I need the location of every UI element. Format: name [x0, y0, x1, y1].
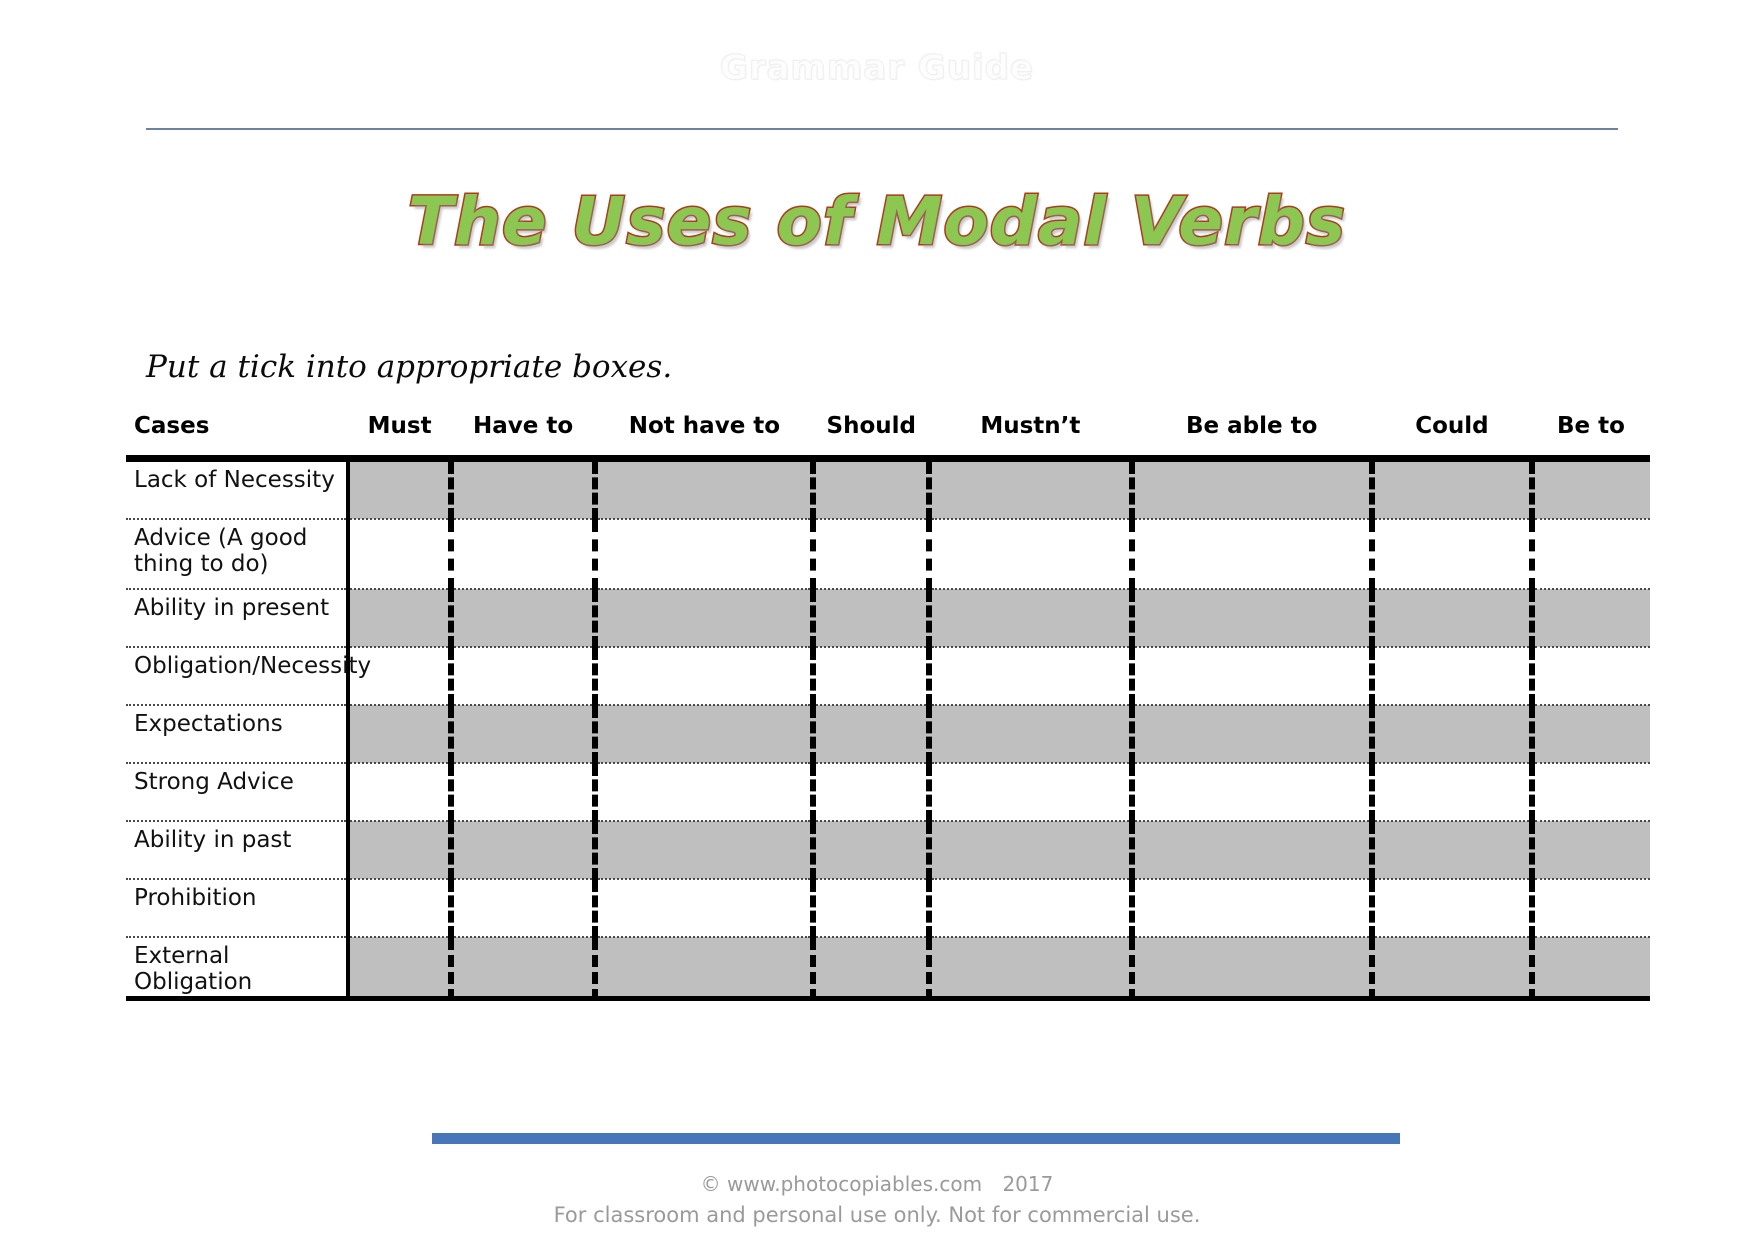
- tick-cell[interactable]: [929, 705, 1131, 763]
- table-body: Lack of NecessityAdvice (A good thing to…: [126, 459, 1650, 999]
- tick-cell[interactable]: [348, 589, 450, 647]
- tick-cell[interactable]: [1132, 647, 1372, 705]
- tick-cell[interactable]: [1132, 937, 1372, 998]
- column-header-have-to: Have to: [451, 413, 596, 459]
- row-label: Expectations: [126, 705, 348, 763]
- tick-cell[interactable]: [451, 705, 596, 763]
- tick-cell[interactable]: [929, 589, 1131, 647]
- footer-copyright: © www.photocopiables.com 2017: [0, 1172, 1754, 1196]
- row-label: Strong Advice: [126, 763, 348, 821]
- column-header-could: Could: [1372, 413, 1532, 459]
- tick-cell[interactable]: [1372, 459, 1532, 520]
- tick-cell[interactable]: [1532, 647, 1650, 705]
- tick-cell[interactable]: [929, 459, 1131, 520]
- table-row: Prohibition: [126, 879, 1650, 937]
- table-row: Advice (A good thing to do): [126, 519, 1650, 589]
- tick-cell[interactable]: [813, 647, 929, 705]
- column-header-not-have-to: Not have to: [595, 413, 813, 459]
- table-row: Lack of Necessity: [126, 459, 1650, 520]
- tick-cell[interactable]: [595, 705, 813, 763]
- tick-cell[interactable]: [451, 763, 596, 821]
- column-header-must: Must: [348, 413, 450, 459]
- tick-cell[interactable]: [813, 879, 929, 937]
- tick-cell[interactable]: [1372, 763, 1532, 821]
- tick-cell[interactable]: [1532, 589, 1650, 647]
- document-header-title: Grammar Guide: [0, 48, 1754, 88]
- footer-usage-notice: For classroom and personal use only. Not…: [0, 1203, 1754, 1227]
- tick-cell[interactable]: [1132, 459, 1372, 520]
- tick-cell[interactable]: [929, 879, 1131, 937]
- tick-cell[interactable]: [1532, 821, 1650, 879]
- tick-cell[interactable]: [813, 459, 929, 520]
- tick-cell[interactable]: [929, 519, 1131, 589]
- table-row: External Obligation: [126, 937, 1650, 998]
- worksheet-table-container: CasesMustHave toNot have toShouldMustn’t…: [126, 413, 1650, 1001]
- tick-cell[interactable]: [451, 879, 596, 937]
- column-header-mustn-t: Mustn’t: [929, 413, 1131, 459]
- tick-cell[interactable]: [929, 821, 1131, 879]
- row-label: Advice (A good thing to do): [126, 519, 348, 589]
- instruction-text: Put a tick into appropriate boxes.: [146, 349, 672, 385]
- tick-cell[interactable]: [929, 937, 1131, 998]
- row-label: Ability in present: [126, 589, 348, 647]
- tick-cell[interactable]: [451, 519, 596, 589]
- footer-site: www.photocopiables.com: [727, 1172, 982, 1196]
- tick-cell[interactable]: [451, 821, 596, 879]
- tick-cell[interactable]: [595, 647, 813, 705]
- tick-cell[interactable]: [1132, 821, 1372, 879]
- tick-cell[interactable]: [348, 519, 450, 589]
- tick-cell[interactable]: [929, 647, 1131, 705]
- tick-cell[interactable]: [595, 459, 813, 520]
- table-header-row: CasesMustHave toNot have toShouldMustn’t…: [126, 413, 1650, 459]
- tick-cell[interactable]: [595, 589, 813, 647]
- tick-cell[interactable]: [1372, 705, 1532, 763]
- tick-cell[interactable]: [929, 763, 1131, 821]
- tick-cell[interactable]: [1372, 519, 1532, 589]
- tick-cell[interactable]: [1532, 763, 1650, 821]
- tick-cell[interactable]: [595, 937, 813, 998]
- tick-cell[interactable]: [1132, 879, 1372, 937]
- tick-cell[interactable]: [1132, 763, 1372, 821]
- header-divider: [146, 128, 1618, 130]
- tick-cell[interactable]: [1532, 879, 1650, 937]
- tick-cell[interactable]: [595, 763, 813, 821]
- tick-cell[interactable]: [451, 459, 596, 520]
- footer-year: 2017: [1002, 1172, 1053, 1196]
- tick-cell[interactable]: [1372, 589, 1532, 647]
- tick-cell[interactable]: [1372, 937, 1532, 998]
- tick-cell[interactable]: [348, 821, 450, 879]
- tick-cell[interactable]: [1372, 821, 1532, 879]
- tick-cell[interactable]: [348, 705, 450, 763]
- tick-cell[interactable]: [595, 519, 813, 589]
- row-label: Lack of Necessity: [126, 459, 348, 520]
- tick-cell[interactable]: [1532, 937, 1650, 998]
- tick-cell[interactable]: [1372, 647, 1532, 705]
- row-label: Ability in past: [126, 821, 348, 879]
- tick-cell[interactable]: [348, 937, 450, 998]
- tick-cell[interactable]: [813, 705, 929, 763]
- footer-divider: [432, 1133, 1400, 1144]
- tick-cell[interactable]: [451, 589, 596, 647]
- row-label: Obligation/Necessity: [126, 647, 348, 705]
- tick-cell[interactable]: [1532, 519, 1650, 589]
- column-header-cases: Cases: [126, 413, 348, 459]
- tick-cell[interactable]: [595, 879, 813, 937]
- tick-cell[interactable]: [813, 519, 929, 589]
- table-row: Ability in past: [126, 821, 1650, 879]
- tick-cell[interactable]: [451, 647, 596, 705]
- row-label: Prohibition: [126, 879, 348, 937]
- table-row: Expectations: [126, 705, 1650, 763]
- tick-cell[interactable]: [595, 821, 813, 879]
- page-header: Grammar Guide: [0, 0, 1754, 132]
- tick-cell[interactable]: [1532, 459, 1650, 520]
- tick-cell[interactable]: [451, 937, 596, 998]
- tick-cell[interactable]: [813, 763, 929, 821]
- table-row: Ability in present: [126, 589, 1650, 647]
- table-row: Obligation/Necessity: [126, 647, 1650, 705]
- tick-cell[interactable]: [348, 763, 450, 821]
- tick-cell[interactable]: [813, 589, 929, 647]
- column-header-be-able-to: Be able to: [1132, 413, 1372, 459]
- tick-cell[interactable]: [1132, 519, 1372, 589]
- tick-cell[interactable]: [813, 821, 929, 879]
- tick-cell[interactable]: [1132, 589, 1372, 647]
- tick-cell[interactable]: [1532, 705, 1650, 763]
- tick-cell[interactable]: [1372, 879, 1532, 937]
- table-row: Strong Advice: [126, 763, 1650, 821]
- tick-cell[interactable]: [813, 937, 929, 998]
- row-label: External Obligation: [126, 937, 348, 998]
- column-header-should: Should: [813, 413, 929, 459]
- page-title: The Uses of Modal Verbs: [0, 183, 1754, 260]
- tick-cell[interactable]: [1132, 705, 1372, 763]
- modal-verbs-table: CasesMustHave toNot have toShouldMustn’t…: [126, 413, 1650, 1001]
- tick-cell[interactable]: [348, 459, 450, 520]
- tick-cell[interactable]: [348, 879, 450, 937]
- column-header-be-to: Be to: [1532, 413, 1650, 459]
- copyright-icon: ©: [701, 1172, 721, 1196]
